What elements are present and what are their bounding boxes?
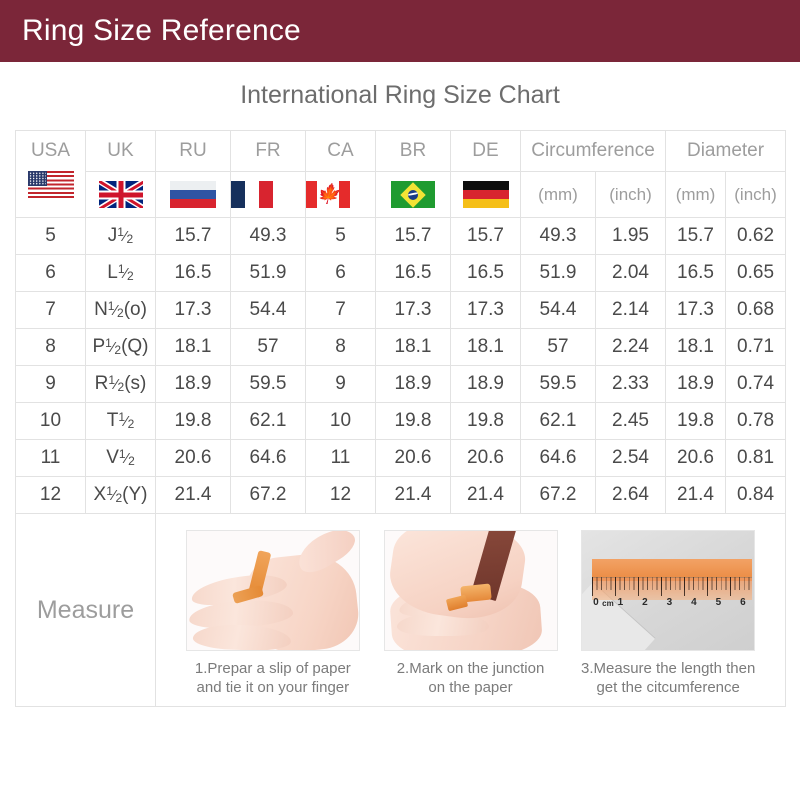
- header-unit-circumference-mm: (mm): [521, 172, 596, 218]
- cell-ca: 12: [306, 477, 376, 514]
- page-banner-title: Ring Size Reference: [22, 16, 301, 46]
- cell-uk: X1⁄2(Y): [86, 477, 156, 514]
- cell-diameter-inch: 0.74: [726, 366, 786, 403]
- ruler-tick-label: 0: [593, 597, 599, 608]
- measure-step-caption: 1.Prepar a slip of paper and tie it on y…: [195, 660, 351, 698]
- cell-diameter-mm: 19.8: [666, 403, 726, 440]
- flag-usa-icon: [28, 171, 74, 198]
- measure-step-caption: 3.Measure the length then get the citcum…: [581, 660, 755, 698]
- header-label-fr: FR: [231, 131, 306, 172]
- cell-circumference-inch: 1.95: [596, 218, 666, 255]
- ruler-unit-label: cm: [602, 599, 614, 608]
- header-cell-usa: USA: [16, 131, 86, 218]
- header-label-ru: RU: [156, 131, 231, 172]
- cell-fr: 57: [231, 329, 306, 366]
- cell-usa: 5: [16, 218, 86, 255]
- cell-br: 15.7: [376, 218, 451, 255]
- cell-circumference-mm: 67.2: [521, 477, 596, 514]
- cell-uk: L1⁄2: [86, 255, 156, 292]
- cell-de: 17.3: [451, 292, 521, 329]
- cell-fr: 64.6: [231, 440, 306, 477]
- cell-circumference-mm: 57: [521, 329, 596, 366]
- header-label-de: DE: [451, 131, 521, 172]
- ring-size-table-wrapper: USA UK RU FR CA BR DE Circumference Diam…: [0, 130, 800, 707]
- ruler-tick-label: 2: [642, 597, 648, 608]
- cell-ru: 18.1: [156, 329, 231, 366]
- cell-ca: 6: [306, 255, 376, 292]
- header-label-br: BR: [376, 131, 451, 172]
- ruler-tick-label: 5: [716, 597, 722, 608]
- cell-usa: 7: [16, 292, 86, 329]
- hand-with-paper-strip-photo: [186, 530, 360, 651]
- table-row: 7N1⁄2(o)17.354.4717.317.354.42.1417.30.6…: [16, 292, 786, 329]
- table-row: 9R1⁄2(s)18.959.5918.918.959.52.3318.90.7…: [16, 366, 786, 403]
- cell-circumference-mm: 59.5: [521, 366, 596, 403]
- ring-size-table: USA UK RU FR CA BR DE Circumference Diam…: [15, 130, 786, 707]
- flag-brazil-icon: [376, 172, 451, 218]
- cell-de: 16.5: [451, 255, 521, 292]
- cell-ca: 8: [306, 329, 376, 366]
- cell-br: 18.1: [376, 329, 451, 366]
- measure-row: Measure 1.Prep: [16, 514, 786, 707]
- cell-circumference-inch: 2.45: [596, 403, 666, 440]
- cell-diameter-mm: 21.4: [666, 477, 726, 514]
- header-unit-circumference-inch: (inch): [596, 172, 666, 218]
- ring-size-table-body: 5J1⁄215.749.3515.715.749.31.9515.70.626L…: [16, 218, 786, 514]
- header-label-usa: USA: [31, 140, 70, 162]
- cell-fr: 59.5: [231, 366, 306, 403]
- table-row: 12X1⁄2(Y)21.467.21221.421.467.22.6421.40…: [16, 477, 786, 514]
- cell-diameter-inch: 0.78: [726, 403, 786, 440]
- cell-fr: 51.9: [231, 255, 306, 292]
- table-row: 11V1⁄220.664.61120.620.664.62.5420.60.81: [16, 440, 786, 477]
- cell-circumference-mm: 64.6: [521, 440, 596, 477]
- cell-uk: V1⁄2: [86, 440, 156, 477]
- flag-uk-icon: [86, 172, 156, 218]
- cell-circumference-inch: 2.33: [596, 366, 666, 403]
- table-row: 5J1⁄215.749.3515.715.749.31.9515.70.62: [16, 218, 786, 255]
- cell-br: 18.9: [376, 366, 451, 403]
- cell-ca: 9: [306, 366, 376, 403]
- cell-ru: 16.5: [156, 255, 231, 292]
- cell-ru: 15.7: [156, 218, 231, 255]
- cell-uk: T1⁄2: [86, 403, 156, 440]
- cell-diameter-mm: 18.1: [666, 329, 726, 366]
- cell-ca: 11: [306, 440, 376, 477]
- cell-fr: 54.4: [231, 292, 306, 329]
- cell-br: 19.8: [376, 403, 451, 440]
- page-banner: Ring Size Reference: [0, 0, 800, 62]
- cell-diameter-inch: 0.68: [726, 292, 786, 329]
- measure-label: Measure: [16, 514, 156, 707]
- chart-title: International Ring Size Chart: [0, 83, 800, 108]
- cell-de: 21.4: [451, 477, 521, 514]
- cell-usa: 10: [16, 403, 86, 440]
- flag-russia-icon: [156, 172, 231, 218]
- cell-ca: 10: [306, 403, 376, 440]
- ruler-measuring-strip-photo: 0cm123456: [581, 530, 755, 651]
- cell-usa: 11: [16, 440, 86, 477]
- flag-canada-icon: 🍁: [306, 172, 376, 218]
- table-row: 8P1⁄2(Q)18.157818.118.1572.2418.10.71: [16, 329, 786, 366]
- measure-step: 0cm123456 3.Measure the length then get …: [576, 530, 760, 698]
- measure-step-caption: 2.Mark on the junction on the paper: [397, 660, 545, 698]
- cell-br: 17.3: [376, 292, 451, 329]
- cell-ru: 17.3: [156, 292, 231, 329]
- measure-step: 1.Prepar a slip of paper and tie it on y…: [181, 530, 365, 698]
- marking-paper-with-pen-photo: [384, 530, 558, 651]
- cell-diameter-inch: 0.71: [726, 329, 786, 366]
- cell-fr: 62.1: [231, 403, 306, 440]
- cell-diameter-mm: 15.7: [666, 218, 726, 255]
- cell-br: 21.4: [376, 477, 451, 514]
- cell-diameter-mm: 16.5: [666, 255, 726, 292]
- flag-france-icon: [231, 172, 306, 218]
- header-label-ca: CA: [306, 131, 376, 172]
- cell-uk: P1⁄2(Q): [86, 329, 156, 366]
- header-unit-diameter-mm: (mm): [666, 172, 726, 218]
- header-label-diameter: Diameter: [666, 131, 786, 172]
- cell-diameter-inch: 0.84: [726, 477, 786, 514]
- cell-de: 20.6: [451, 440, 521, 477]
- cell-uk: N1⁄2(o): [86, 292, 156, 329]
- cell-circumference-mm: 62.1: [521, 403, 596, 440]
- cell-diameter-mm: 18.9: [666, 366, 726, 403]
- table-row: 6L1⁄216.551.9616.516.551.92.0416.50.65: [16, 255, 786, 292]
- cell-usa: 6: [16, 255, 86, 292]
- cell-circumference-mm: 54.4: [521, 292, 596, 329]
- cell-ca: 7: [306, 292, 376, 329]
- header-label-uk: UK: [86, 131, 156, 172]
- cell-uk: R1⁄2(s): [86, 366, 156, 403]
- cell-uk: J1⁄2: [86, 218, 156, 255]
- measure-steps-cell: 1.Prepar a slip of paper and tie it on y…: [156, 514, 786, 707]
- cell-fr: 49.3: [231, 218, 306, 255]
- cell-usa: 12: [16, 477, 86, 514]
- table-header-row-flags-units: 🍁 (mm) (inch) (mm) (inch): [16, 172, 786, 218]
- cell-circumference-inch: 2.14: [596, 292, 666, 329]
- cell-circumference-inch: 2.64: [596, 477, 666, 514]
- cell-de: 18.9: [451, 366, 521, 403]
- cell-circumference-inch: 2.54: [596, 440, 666, 477]
- cell-diameter-inch: 0.81: [726, 440, 786, 477]
- header-unit-diameter-inch: (inch): [726, 172, 786, 218]
- cell-usa: 9: [16, 366, 86, 403]
- table-header-row-labels: USA UK RU FR CA BR DE Circumference Diam…: [16, 131, 786, 172]
- cell-ru: 18.9: [156, 366, 231, 403]
- cell-circumference-inch: 2.04: [596, 255, 666, 292]
- cell-ru: 21.4: [156, 477, 231, 514]
- cell-ca: 5: [306, 218, 376, 255]
- measure-step: 2.Mark on the junction on the paper: [379, 530, 563, 698]
- cell-diameter-mm: 20.6: [666, 440, 726, 477]
- cell-ru: 20.6: [156, 440, 231, 477]
- flag-germany-icon: [451, 172, 521, 218]
- ruler-tick-label: 3: [667, 597, 673, 608]
- cell-de: 19.8: [451, 403, 521, 440]
- table-row: 10T1⁄219.862.11019.819.862.12.4519.80.78: [16, 403, 786, 440]
- cell-diameter-inch: 0.65: [726, 255, 786, 292]
- cell-diameter-mm: 17.3: [666, 292, 726, 329]
- ruler-tick-label: 1: [618, 597, 624, 608]
- ruler-scale-numbers: 0cm123456: [590, 597, 754, 611]
- ruler-tick-label: 4: [691, 597, 697, 608]
- measure-steps: 1.Prepar a slip of paper and tie it on y…: [156, 516, 785, 704]
- cell-de: 15.7: [451, 218, 521, 255]
- header-label-circumference: Circumference: [521, 131, 666, 172]
- cell-de: 18.1: [451, 329, 521, 366]
- cell-circumference-inch: 2.24: [596, 329, 666, 366]
- cell-ru: 19.8: [156, 403, 231, 440]
- cell-fr: 67.2: [231, 477, 306, 514]
- ruler-tick-label: 6: [740, 597, 746, 608]
- cell-usa: 8: [16, 329, 86, 366]
- cell-br: 16.5: [376, 255, 451, 292]
- cell-diameter-inch: 0.62: [726, 218, 786, 255]
- cell-circumference-mm: 49.3: [521, 218, 596, 255]
- cell-br: 20.6: [376, 440, 451, 477]
- cell-circumference-mm: 51.9: [521, 255, 596, 292]
